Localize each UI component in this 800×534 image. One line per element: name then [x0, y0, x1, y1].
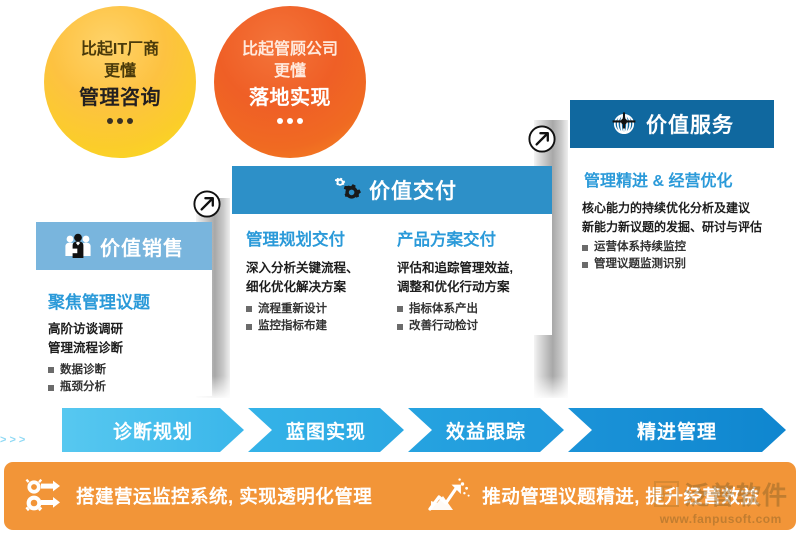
delivery-col-bullets: 流程重新设计 监控指标布建 [246, 301, 387, 336]
delivery-col-bullets: 指标体系产出 改善行动检讨 [397, 301, 538, 336]
panel-service-title: 价值服务 [646, 109, 734, 139]
circle-line-3: 管理咨询 [79, 86, 161, 112]
panel-sales-header: 价值销售 [36, 222, 212, 270]
arrow-up-right-circle-icon [527, 124, 557, 154]
bullet-item: 改善行动检讨 [397, 318, 538, 335]
process-step-4[interactable]: 精进管理 [568, 408, 786, 452]
highlight-circle-implementation: 比起管顾公司 更懂 落地实现 [214, 6, 366, 158]
bullet-item: 流程重新设计 [246, 301, 387, 318]
circle-line-1: 比起IT厂商 [81, 40, 159, 60]
panel-sales-subtitle: 聚焦管理议题 [48, 288, 200, 313]
gears-icon [327, 175, 361, 205]
process-step-label: 诊断规划 [113, 417, 193, 444]
process-step-1[interactable]: 诊断规划 [62, 408, 244, 452]
circle-line-2: 更懂 [274, 62, 306, 82]
paragraph-line: 高阶访谈调研 [48, 320, 200, 339]
panel-sales-paragraph: 高阶访谈调研 管理流程诊断 [48, 320, 200, 359]
footer-banner: 搭建营运监控系统, 实现透明化管理 推动管理议题精 [4, 462, 796, 530]
delivery-col-subtitle: 产品方案交付 [397, 226, 538, 250]
process-stage-bar: > > > 诊断规划 蓝图实现 效益跟踪 精进管理 [0, 408, 800, 456]
paragraph-line: 核心能力的持续优化分析及建议 [582, 199, 762, 218]
delivery-col-paragraph: 评估和追踪管理效益, 调整和优化行动方案 [397, 259, 538, 298]
paragraph-line: 评估和追踪管理效益, [397, 259, 538, 278]
panel-service-header: 价值服务 [570, 100, 774, 148]
circle-line-3: 落地实现 [249, 86, 331, 112]
team-people-icon [64, 233, 92, 259]
panel-value-delivery: 价值交付 管理规划交付 深入分析关键流程、 细化优化解决方案 流程重新设计 监控… [232, 166, 552, 335]
panel-service-bullets: 运营体系持续监控 管理议题监测识别 [582, 239, 762, 274]
target-radar-icon [610, 110, 638, 138]
bullet-item: 瓶颈分析 [48, 379, 200, 396]
delivery-column-product: 产品方案交付 评估和追踪管理效益, 调整和优化行动方案 指标体系产出 改善行动检… [397, 226, 538, 335]
infographic-canvas: 比起IT厂商 更懂 管理咨询 比起管顾公司 更懂 落地实现 [0, 0, 800, 534]
process-ticks: > > > [0, 434, 25, 446]
delivery-col-subtitle: 管理规划交付 [246, 226, 387, 250]
panel-sales-title: 价值销售 [100, 232, 184, 261]
panel-delivery-body: 管理规划交付 深入分析关键流程、 细化优化解决方案 流程重新设计 监控指标布建 … [232, 214, 552, 335]
panel-service-body: 管理精进 & 经营优化 核心能力的持续优化分析及建议 新能力新议题的发掘、研讨与… [570, 148, 774, 274]
bullet-item: 指标体系产出 [397, 301, 538, 318]
gears-arrows-icon [22, 476, 66, 516]
panel-service-subtitle: 管理精进 & 经营优化 [584, 167, 762, 191]
footer-item-improvement: 推动管理议题精进, 提升经营效益 [426, 476, 759, 516]
paragraph-line: 管理流程诊断 [48, 339, 200, 358]
highlight-circle-consulting: 比起IT厂商 更懂 管理咨询 [44, 6, 196, 158]
paragraph-line: 调整和优化行动方案 [397, 278, 538, 297]
tick-chevron: > [19, 434, 25, 446]
footer-item-text: 推动管理议题精进, 提升经营效益 [482, 483, 759, 509]
panel-sales-body: 聚焦管理议题 高阶访谈调研 管理流程诊断 数据诊断 瓶颈分析 [36, 270, 212, 396]
delivery-col-paragraph: 深入分析关键流程、 细化优化解决方案 [246, 259, 387, 298]
process-step-label: 效益跟踪 [446, 417, 526, 444]
process-step-3[interactable]: 效益跟踪 [408, 408, 564, 452]
circle-line-2: 更懂 [104, 62, 136, 82]
process-step-label: 精进管理 [637, 417, 717, 444]
delivery-column-planning: 管理规划交付 深入分析关键流程、 细化优化解决方案 流程重新设计 监控指标布建 [246, 226, 387, 335]
growth-chart-icon [426, 476, 472, 516]
bullet-item: 数据诊断 [48, 362, 200, 379]
paragraph-line: 细化优化解决方案 [246, 278, 387, 297]
panel-delivery-header: 价值交付 [232, 166, 552, 214]
bullet-item: 监控指标布建 [246, 318, 387, 335]
paragraph-line: 新能力新议题的发掘、研讨与评估 [582, 218, 762, 237]
ellipsis-dots [107, 118, 133, 124]
bullet-item: 运营体系持续监控 [582, 239, 762, 256]
arrow-up-right-circle-icon [192, 189, 222, 219]
footer-item-monitoring: 搭建营运监控系统, 实现透明化管理 [22, 476, 372, 516]
panel-value-service: 价值服务 管理精进 & 经营优化 核心能力的持续优化分析及建议 新能力新议题的发… [570, 100, 774, 274]
tick-chevron: > [9, 434, 15, 446]
tick-chevron: > [0, 434, 6, 446]
circle-line-1: 比起管顾公司 [242, 40, 338, 60]
panel-service-paragraph: 核心能力的持续优化分析及建议 新能力新议题的发掘、研讨与评估 [582, 199, 762, 236]
process-step-label: 蓝图实现 [286, 417, 366, 444]
panel-value-sales: 价值销售 聚焦管理议题 高阶访谈调研 管理流程诊断 数据诊断 瓶颈分析 [36, 222, 212, 396]
footer-item-text: 搭建营运监控系统, 实现透明化管理 [76, 483, 372, 509]
panel-sales-bullets: 数据诊断 瓶颈分析 [48, 362, 200, 397]
panel-delivery-title: 价值交付 [369, 175, 457, 205]
ellipsis-dots [277, 118, 303, 124]
process-step-2[interactable]: 蓝图实现 [248, 408, 404, 452]
paragraph-line: 深入分析关键流程、 [246, 259, 387, 278]
bullet-item: 管理议题监测识别 [582, 256, 762, 273]
